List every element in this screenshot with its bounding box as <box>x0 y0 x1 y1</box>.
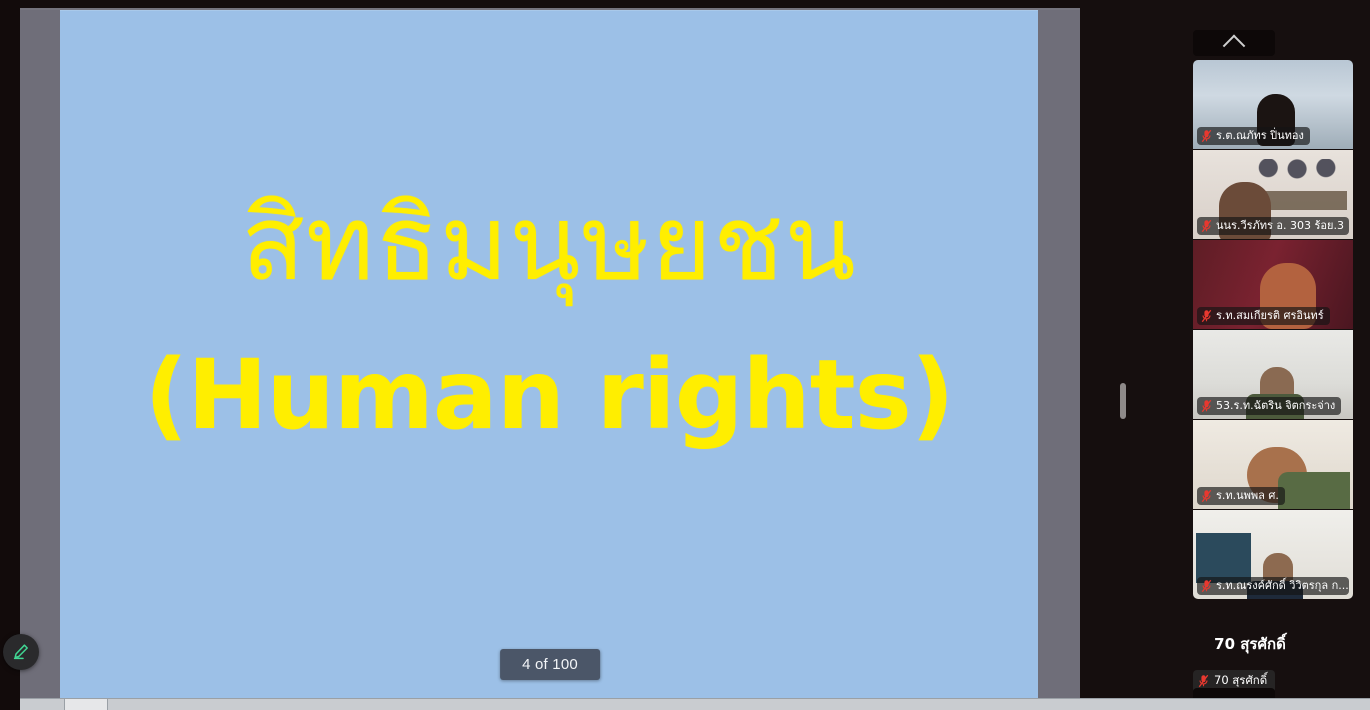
os-window-tab[interactable] <box>64 698 108 710</box>
screen-share-viewport[interactable]: สิทธิมนุษยชน (Human rights) 4 of 100 <box>20 8 1080 700</box>
active-speaker-name: 70 สุรศักดิ์ <box>1130 632 1370 656</box>
participant-thumbnail[interactable]: 53.ร.ท.ฉัตริน จิตกระจ่าง <box>1193 330 1353 419</box>
presentation-slide[interactable]: สิทธิมนุษยชน (Human rights) <box>60 10 1038 698</box>
participant-name: นนร.วีรภัทร อ. 303 ร้อย.3 <box>1216 218 1344 233</box>
participant-thumbnail[interactable]: ร.ท.สมเกียรติ ศรอินทร์ <box>1193 240 1353 329</box>
participant-name-badge: ร.ท.ณรงค์ศักดิ์ วิวิตรกุล ก... <box>1197 577 1349 595</box>
slide-counter: 4 of 100 <box>500 649 600 680</box>
microphone-muted-icon <box>1201 219 1212 233</box>
participant-thumbnail[interactable]: ร.ท.ณรงค์ศักดิ์ วิวิตรกุล ก... <box>1193 510 1353 599</box>
participant-thumbnail-list: ร.ต.ณภัทร ปิ่นทอง นนร.วีรภัทร อ. 303 ร้อ… <box>1193 60 1353 599</box>
rail-scroll-up-button[interactable] <box>1193 30 1275 56</box>
participant-name-badge: ร.ต.ณภัทร ปิ่นทอง <box>1197 127 1310 145</box>
participant-name: ร.ท.สมเกียรติ ศรอินทร์ <box>1216 308 1324 323</box>
pencil-icon <box>11 642 31 662</box>
microphone-muted-icon <box>1201 489 1212 503</box>
participant-name: ร.ท.นพพล ศ. <box>1216 488 1279 503</box>
participant-name-badge: ร.ท.นพพล ศ. <box>1197 487 1285 505</box>
participant-thumbnail[interactable]: นนร.วีรภัทร อ. 303 ร้อย.3 <box>1193 150 1353 239</box>
left-gutter <box>0 0 20 710</box>
participant-name: ร.ท.ณรงค์ศักดิ์ วิวิตรกุล ก... <box>1216 578 1349 593</box>
participant-name: ร.ต.ณภัทร ปิ่นทอง <box>1216 128 1304 143</box>
microphone-muted-icon <box>1201 579 1212 593</box>
slide-title-english: (Human rights) <box>144 347 953 443</box>
chevron-up-icon <box>1223 35 1246 58</box>
os-taskbar-left-edge <box>0 698 20 710</box>
slide-title-thai: สิทธิมนุษยชน <box>241 191 856 295</box>
participant-rail: ร.ต.ณภัทร ปิ่นทอง นนร.วีรภัทร อ. 303 ร้อ… <box>1130 0 1370 710</box>
zoom-meeting-window: สิทธิมนุษยชน (Human rights) 4 of 100 <box>0 0 1370 710</box>
microphone-muted-icon <box>1201 309 1212 323</box>
participant-name-badge: 53.ร.ท.ฉัตริน จิตกระจ่าง <box>1197 397 1341 415</box>
os-taskbar-strip <box>0 698 1370 710</box>
participant-name-badge: ร.ท.สมเกียรติ ศรอินทร์ <box>1197 307 1330 325</box>
microphone-muted-icon <box>1198 674 1209 688</box>
microphone-muted-icon <box>1201 129 1212 143</box>
participant-name-badge: นนร.วีรภัทร อ. 303 ร้อย.3 <box>1197 217 1349 235</box>
microphone-muted-icon <box>1201 399 1212 413</box>
annotate-button[interactable] <box>3 634 39 670</box>
participant-name: 53.ร.ท.ฉัตริน จิตกระจ่าง <box>1216 398 1335 413</box>
participant-thumbnail[interactable]: ร.ต.ณภัทร ปิ่นทอง <box>1193 60 1353 149</box>
participant-thumbnail[interactable]: ร.ท.นพพล ศ. <box>1193 420 1353 509</box>
panel-drag-handle[interactable] <box>1120 383 1126 419</box>
